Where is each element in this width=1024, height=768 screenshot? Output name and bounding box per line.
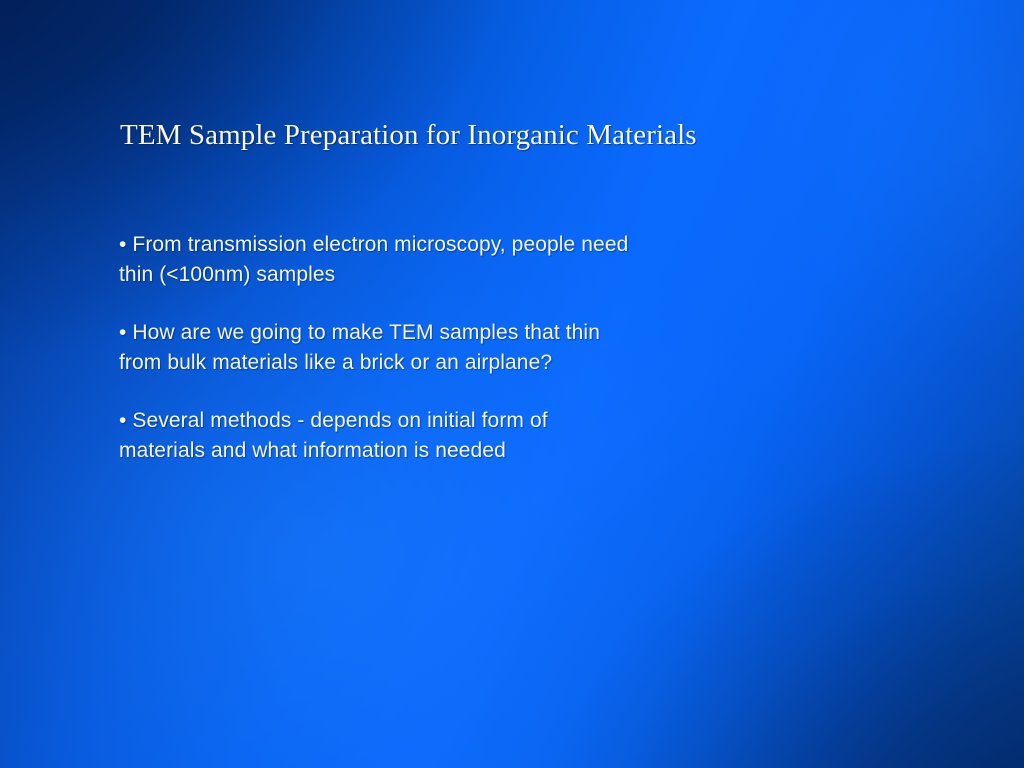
bullet-line: thin (<100nm) samples xyxy=(119,260,879,290)
bullet-line: • How are we going to make TEM samples t… xyxy=(119,318,879,348)
bullet-line: from bulk materials like a brick or an a… xyxy=(119,348,879,378)
slide: TEM Sample Preparation for Inorganic Mat… xyxy=(0,0,1024,768)
bullet-line: materials and what information is needed xyxy=(119,436,879,466)
slide-body: • From transmission electron microscopy,… xyxy=(119,230,879,466)
slide-title: TEM Sample Preparation for Inorganic Mat… xyxy=(120,117,697,153)
bullet-item: • Several methods - depends on initial f… xyxy=(119,406,879,466)
bullet-item: • How are we going to make TEM samples t… xyxy=(119,318,879,378)
bullet-item: • From transmission electron microscopy,… xyxy=(119,230,879,290)
bullet-line: • Several methods - depends on initial f… xyxy=(119,406,879,436)
slide-content: TEM Sample Preparation for Inorganic Mat… xyxy=(0,0,1024,768)
bullet-line: • From transmission electron microscopy,… xyxy=(119,230,879,260)
